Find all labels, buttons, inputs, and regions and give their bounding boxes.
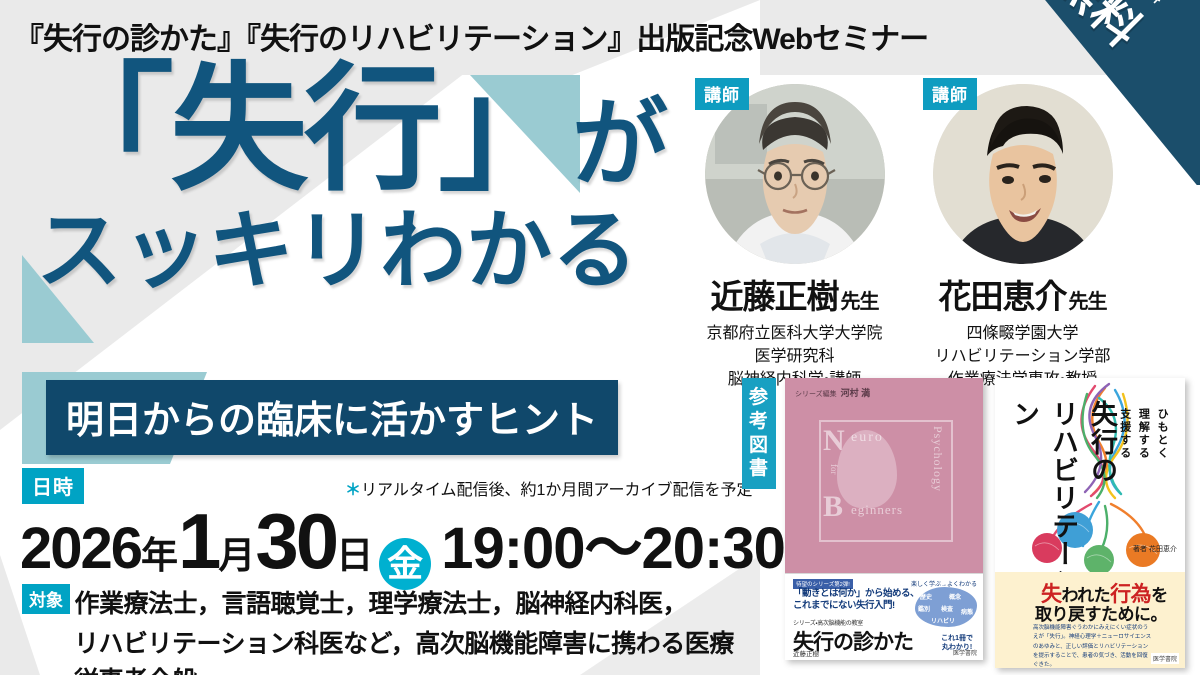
audience-line-1: 作業療法士，言語聴覚士，理学療法士，脳神経内科医， <box>74 590 687 618</box>
audience-line-2: リハビリテーション科医など，高次脳機能障害に携わる医療従事者全般 <box>74 626 742 675</box>
book-1-keyword-4: 病態 <box>961 607 973 616</box>
main-title-keyword: 「失行」 <box>36 54 572 207</box>
main-title-line2: スッキリわかる <box>36 208 664 294</box>
book-1-word-beginners: eginners <box>851 502 903 518</box>
speaker-1-avatar <box>705 84 885 264</box>
speaker-2-name: 花田恵介 <box>939 278 1067 315</box>
book-2-author: 著者 花田恵介 <box>1133 544 1177 554</box>
book-cover-shikou-no-rehabilitation: 失行のリハビリテーション ひもとく理解する支援する 著者 花田恵介 失われた行為… <box>995 378 1185 668</box>
date-month-unit: 月 <box>218 525 255 579</box>
book-1-obi-catchphrase: 「動きとは何か」から始める、 これまでにない失行入門! <box>793 588 919 613</box>
main-title-line1: 「失行」が <box>36 62 664 200</box>
book-1-keyword-0: 歴史 <box>920 592 932 601</box>
book-1-cover-art: シリーズ編集河村 満 N euro Psychology for B eginn… <box>785 378 983 574</box>
book-1-keyword-blob: 歴史 概念 鑑別 検査 病態 リハビリ <box>915 587 977 627</box>
speaker-2-name-row: 花田恵介先生 <box>915 270 1130 318</box>
book-2-author-label: 著者 <box>1133 546 1147 553</box>
speaker-1-honorific: 先生 <box>841 291 879 313</box>
book-cover-shikou-no-mikata: シリーズ編集河村 満 N euro Psychology for B eginn… <box>785 378 983 660</box>
book-1-series-editor: シリーズ編集河村 満 <box>795 386 870 399</box>
speaker-card-2: 講師 <box>915 78 1130 392</box>
date-year-unit: 年 <box>141 525 178 579</box>
speaker-card-1: 講師 <box>687 78 902 392</box>
speaker-1-badge: 講師 <box>695 78 749 110</box>
date-weekday-badge: 金 <box>379 538 431 590</box>
book-1-letter-b: B <box>823 490 843 524</box>
book-2-obi-body: 高次脳機能障害ぐうわかにみえにくい症状のうえが「失行」。神経心理学＋ニューロサイ… <box>1033 624 1153 668</box>
book-1-author: 近藤正樹 <box>793 648 819 658</box>
main-title: 「失行」が スッキリわかる <box>36 62 664 294</box>
date-day-unit: 日 <box>336 525 373 579</box>
audience-badge: 対象 <box>22 584 70 614</box>
book-1-keyword-2: 鑑別 <box>918 604 930 613</box>
book-1-publisher: 医学書院 <box>953 648 977 657</box>
datetime-value: 2026 年 1 月 30 日 金 19:00〜20:30 <box>20 496 785 587</box>
book-1-word-for: for <box>829 464 839 475</box>
book-1-keyword-3: 検査 <box>941 604 953 613</box>
speaker-2-badge: 講師 <box>923 78 977 110</box>
page-title: 『失行の診かた』『失行のリハビリテーション』出版記念Webセミナー <box>14 14 928 58</box>
book-1-series-editor-name: 河村 満 <box>841 388 871 398</box>
speaker-2-affiliation-line-1: 四條畷学園大学 <box>915 322 1130 345</box>
speaker-2-avatar <box>933 84 1113 264</box>
book-1-keyword-1: 概念 <box>949 592 961 601</box>
audience-section: 対象 作業療法士，言語聴覚士，理学療法士，脳神経内科医， リハビリテーション科医… <box>22 584 742 675</box>
speaker-2-honorific: 先生 <box>1069 291 1107 313</box>
book-2-subtitle: ひもとく理解する支援する <box>1115 408 1171 496</box>
date-year: 2026 <box>20 515 141 582</box>
main-title-particle: が <box>572 91 664 198</box>
book-1-word-neuro: euro <box>851 430 884 446</box>
date-day: 30 <box>255 496 336 587</box>
book-1-series-editor-label: シリーズ編集 <box>795 391 837 398</box>
book-2-obi-band: 失われた行為を 取り戻すために。 高次脳機能障害ぐうわかにみえにくい症状のうえが… <box>995 572 1185 668</box>
book-1-letter-n: N <box>823 424 845 458</box>
book-2-publisher: 医学書院 <box>1151 653 1179 664</box>
book-1-obi-round-line-1: これ1冊で <box>941 635 973 643</box>
book-1-obi-catch-line-2: これまでにない失行入門! <box>793 600 919 612</box>
audience-row-1: 対象 作業療法士，言語聴覚士，理学療法士，脳神経内科医， <box>22 584 742 622</box>
webinar-banner: 『失行の診かた』『失行のリハビリテーション』出版記念Webセミナー 受講料 無料… <box>0 0 1200 675</box>
speaker-1-affiliation-line-1: 京都府立医科大学大学院 <box>687 322 902 345</box>
speaker-2-affiliation-line-2: リハビリテーション学部 <box>915 345 1130 368</box>
reference-books-badge: 参考図書 <box>742 378 776 489</box>
book-1-obi-band: 待望のシリーズ第2弾! 「動きとは何か」から始める、 これまでにない失行入門! … <box>785 573 983 660</box>
book-2-author-name: 花田恵介 <box>1149 546 1177 553</box>
speaker-1-name: 近藤正樹 <box>711 278 839 315</box>
date-month: 1 <box>178 496 218 587</box>
book-2-cover-art: 失行のリハビリテーション ひもとく理解する支援する 著者 花田恵介 <box>995 378 1185 574</box>
book-1-obi-catch-line-1: 「動きとは何か」から始める、 <box>793 588 919 600</box>
date-time-range: 19:00〜20:30 <box>441 501 785 585</box>
book-2-obi-line-2: 取り戻すために。 <box>1035 600 1167 625</box>
book-1-word-psychology: Psychology <box>930 426 945 492</box>
speaker-1-affiliation-line-2: 医学研究科 <box>687 345 902 368</box>
speaker-1-name-row: 近藤正樹先生 <box>687 270 902 318</box>
subtitle-bar: 明日からの臨床に活かすヒント <box>46 380 618 455</box>
book-1-keyword-5: リハビリ <box>931 616 955 625</box>
